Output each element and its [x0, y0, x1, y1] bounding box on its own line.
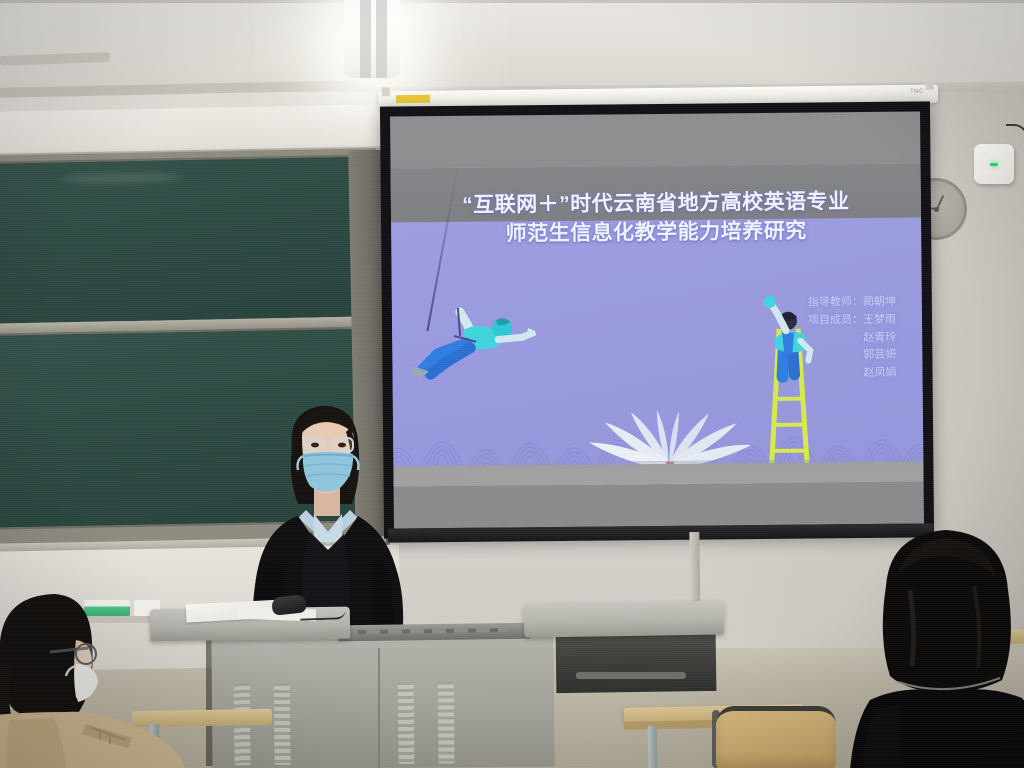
podium-keyboard-recess: [556, 631, 717, 693]
slide-title-line2: 师范生信息化教学能力培养研究: [391, 216, 921, 250]
slide-title-line1: “互联网＋”时代云南省地方高校英语专业: [462, 190, 850, 217]
housing-brand-label: TNC: [910, 89, 924, 95]
student-desk-right-leg: [648, 726, 658, 768]
credit-member-4: 赵凤娟: [808, 365, 896, 384]
podium-vent: [274, 683, 291, 765]
credit-member-3: 郭芸妍: [808, 347, 896, 366]
slide-credits: 指导教师：蔺朝坤 项目成员：王梦雨 赵青玲 郭芸妍 赵凤娟: [808, 294, 897, 384]
housing-bracket-left: [382, 87, 390, 96]
keyboard-tray-rail: [576, 672, 686, 679]
student-chair-right: [716, 706, 836, 768]
credit-member-2: 赵青玲: [808, 329, 896, 348]
classroom-photo-scene: TNC: [0, 0, 1024, 768]
credit-member-1: 项目成员：王梦雨: [808, 312, 896, 331]
presentation-slide: “互联网＋”时代云南省地方高校英语专业 师范生信息化教学能力培养研究 指导教师：…: [391, 163, 924, 486]
slide-title: “互联网＋”时代云南省地方高校英语专业 师范生信息化教学能力培养研究: [391, 187, 922, 250]
chalk-smudge: [61, 172, 181, 184]
blackboard-upper-panel: [0, 154, 369, 325]
ceiling-seam: [0, 0, 1024, 3]
swinging-figure-illustration: [410, 295, 541, 382]
audience-member-right: [846, 524, 1024, 768]
podium-vent: [438, 681, 455, 763]
housing-sticker: [396, 95, 430, 103]
podium-vent: [398, 682, 415, 764]
wireless-access-point: [974, 144, 1014, 184]
podium-door-split: [378, 648, 380, 768]
multimedia-podium: [211, 635, 554, 768]
podium-center-rail: [338, 623, 530, 642]
fluorescent-ceiling-light: [344, 0, 400, 78]
housing-bracket-right: [926, 81, 934, 90]
slide-ground-band: [393, 461, 923, 486]
projection-screen: “互联网＋”时代云南省地方高校英语专业 师范生信息化教学能力培养研究 指导教师：…: [380, 101, 934, 538]
screen-surface: “互联网＋”时代云南省地方高校英语专业 师范生信息化教学能力培养研究 指导教师：…: [390, 111, 924, 528]
status-led-icon: [990, 163, 998, 166]
podium-top-right: [524, 600, 725, 637]
credit-advisor: 指导教师：蔺朝坤: [808, 294, 896, 313]
clock-center-pin: [934, 207, 939, 212]
audience-member-left: [0, 588, 190, 768]
